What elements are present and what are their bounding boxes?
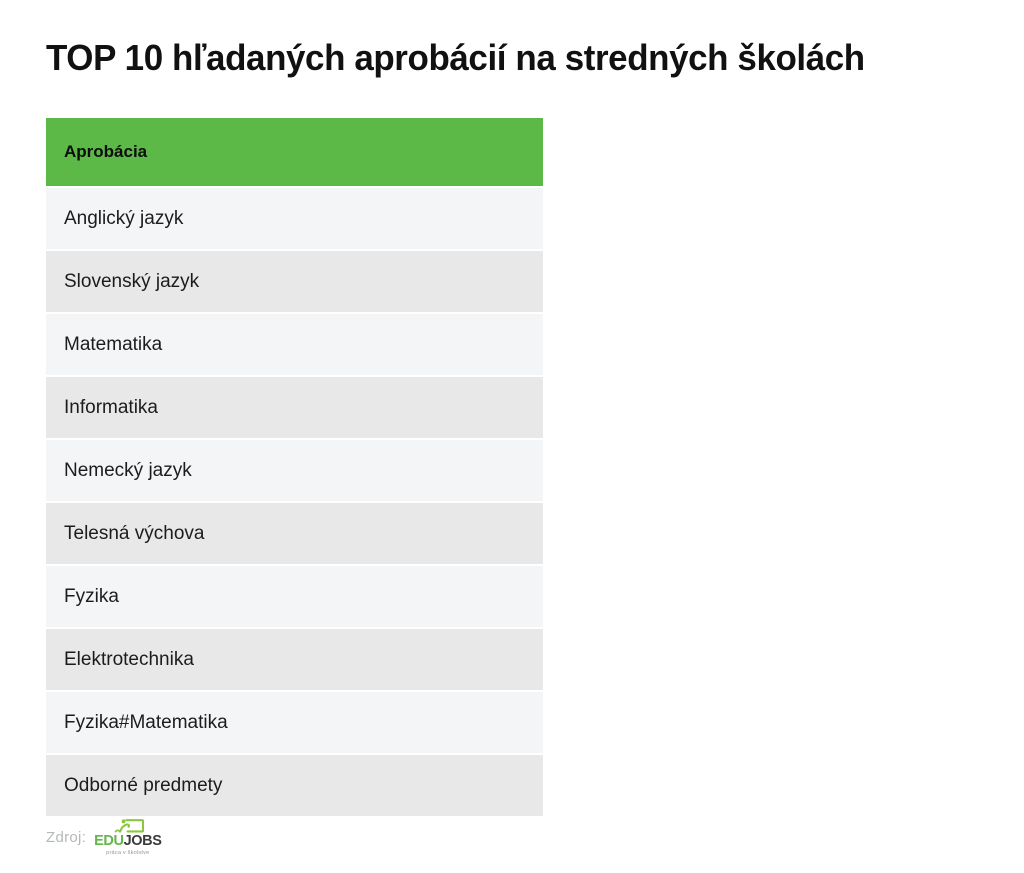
cell-aprobacia: Anglický jazyk: [46, 186, 543, 249]
source-label: Zdroj:: [46, 830, 86, 845]
table-body: Anglický jazyk Slovenský jazyk Matematik…: [46, 186, 543, 816]
cell-aprobacia: Fyzika#Matematika: [46, 690, 543, 753]
cell-aprobacia: Telesná výchova: [46, 501, 543, 564]
table-row[interactable]: Elektrotechnika: [46, 627, 543, 690]
cell-aprobacia: Informatika: [46, 375, 543, 438]
cell-aprobacia: Matematika: [46, 312, 543, 375]
cell-aprobacia: Fyzika: [46, 564, 543, 627]
table-row[interactable]: Matematika: [46, 312, 543, 375]
table-row[interactable]: Nemecký jazyk: [46, 438, 543, 501]
brand-tagline: práca v školstve: [106, 851, 149, 857]
table-row[interactable]: Telesná výchova: [46, 501, 543, 564]
page-title: TOP 10 hľadaných aprobácií na stredných …: [46, 36, 958, 80]
table-head: Aprobácia: [46, 118, 543, 186]
table-header-row: Aprobácia: [46, 118, 543, 186]
brand-wordmark: EDUJOBS: [94, 834, 161, 849]
cell-aprobacia: Elektrotechnika: [46, 627, 543, 690]
source-footer: Zdroj: EDUJOBS práca v školstve: [46, 818, 161, 856]
table-row[interactable]: Fyzika#Matematika: [46, 690, 543, 753]
brand-word-edu: EDU: [94, 833, 123, 849]
table-row[interactable]: Informatika: [46, 375, 543, 438]
cell-aprobacia: Slovenský jazyk: [46, 249, 543, 312]
chalkboard-figure-icon: [111, 818, 145, 833]
cell-aprobacia: Odborné predmety: [46, 753, 543, 816]
column-header-aprobacia: Aprobácia: [46, 118, 543, 186]
cell-aprobacia: Nemecký jazyk: [46, 438, 543, 501]
table-row[interactable]: Fyzika: [46, 564, 543, 627]
table-row[interactable]: Slovenský jazyk: [46, 249, 543, 312]
table-row[interactable]: Odborné predmety: [46, 753, 543, 816]
table-row[interactable]: Anglický jazyk: [46, 186, 543, 249]
edujobs-logo[interactable]: EDUJOBS práca v školstve: [94, 818, 161, 856]
aprobacie-table: Aprobácia Anglický jazyk Slovenský jazyk…: [46, 118, 543, 816]
brand-word-jobs: JOBS: [124, 833, 162, 849]
